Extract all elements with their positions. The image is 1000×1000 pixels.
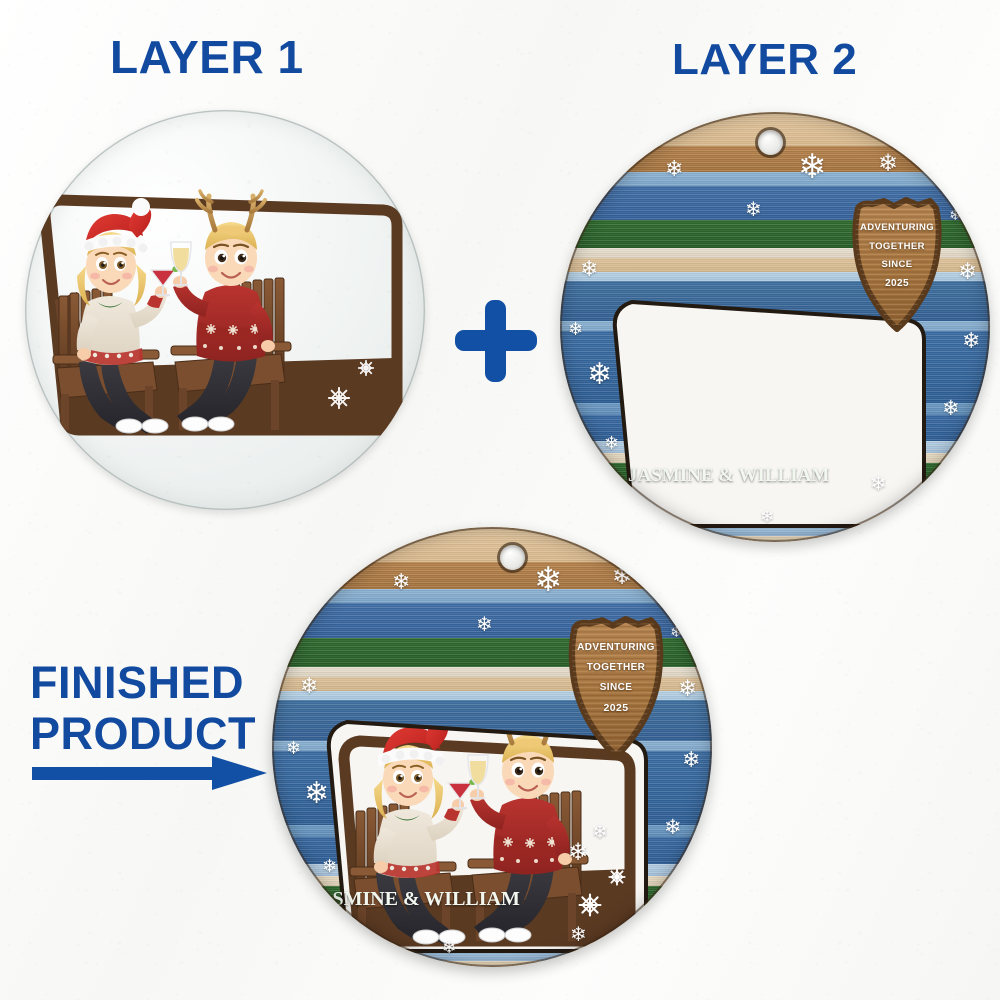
layer-2-heading: LAYER 2 bbox=[672, 38, 857, 82]
hanging-hole bbox=[758, 130, 783, 155]
hanging-hole bbox=[500, 545, 525, 570]
finished-product-line-1: FINISHED bbox=[30, 657, 244, 708]
finished-product-heading: FINISHED PRODUCT bbox=[30, 660, 256, 756]
layer-1-ornament[interactable] bbox=[25, 110, 425, 510]
names-text: JASMINE & WILLIAM bbox=[308, 888, 520, 911]
names-banner: JASMINE & WILLIAM bbox=[272, 886, 712, 913]
finished-product-ornament[interactable]: ❄ ❄ ❄ ❄ ❄ ❄ ❄ ❄ ❄ ❄ ❄ ❄ ❄ ❄ ❄ ❄ AD bbox=[272, 527, 712, 967]
plus-icon bbox=[455, 300, 537, 382]
arrowhead-badge: ADVENTURING TOGETHER SINCE 2025 bbox=[832, 196, 962, 332]
finished-product-line-2: PRODUCT bbox=[30, 711, 256, 756]
names-banner: JASMINE & WILLIAM bbox=[560, 463, 990, 489]
layer-1-heading: LAYER 1 bbox=[110, 34, 304, 80]
arrowhead-badge: ADVENTURING TOGETHER SINCE 2025 bbox=[547, 615, 685, 759]
names-text: JASMINE & WILLIAM bbox=[628, 465, 829, 487]
layer-1-artwork bbox=[25, 110, 425, 510]
finished-product-arrow-icon bbox=[32, 756, 267, 790]
layer-2-ornament[interactable]: ❄ ❄ ❄ ❄ ❄ ❄ ❄ ❄ ❄ ❄ ❄ ❄ ❄ ❄ ADVENTURIN bbox=[560, 112, 990, 542]
